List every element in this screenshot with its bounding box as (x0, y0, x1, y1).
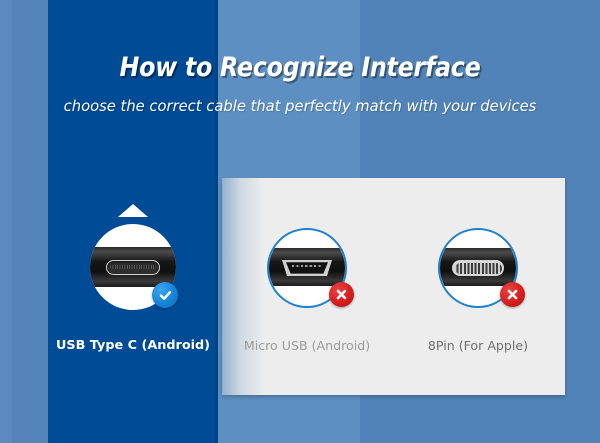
header: How to Recognize Interface choose the co… (0, 0, 600, 115)
page-subtitle: choose the correct cable that perfectly … (9, 83, 591, 115)
cross-badge-icon (500, 282, 525, 307)
port-illustration-lightning (438, 228, 518, 308)
micro-usb-pins (292, 265, 322, 267)
option-list: USB Type C (Android) Micro USB (Android) (0, 178, 600, 395)
port-illustration-usb-c (90, 224, 176, 310)
interface-recognition-infographic: How to Recognize Interface choose the co… (0, 0, 600, 443)
check-badge-icon (152, 282, 178, 308)
option-card-micro-usb[interactable]: Micro USB (Android) (222, 178, 392, 395)
selection-pointer-icon (118, 204, 148, 217)
page-title: How to Recognize Interface (36, 0, 564, 83)
option-card-usb-type-c[interactable]: USB Type C (Android) (48, 178, 218, 395)
option-card-8pin[interactable]: 8Pin (For Apple) (393, 178, 563, 395)
cross-badge-icon (329, 282, 354, 307)
port-illustration-micro-usb (267, 228, 347, 308)
option-label-usb-type-c: USB Type C (Android) (48, 338, 218, 353)
option-label-micro-usb: Micro USB (Android) (222, 338, 392, 353)
micro-usb-slot-icon (282, 260, 332, 276)
lightning-slot-icon (452, 260, 504, 276)
option-label-8pin: 8Pin (For Apple) (393, 338, 563, 353)
usb-c-slot-icon (106, 260, 160, 275)
